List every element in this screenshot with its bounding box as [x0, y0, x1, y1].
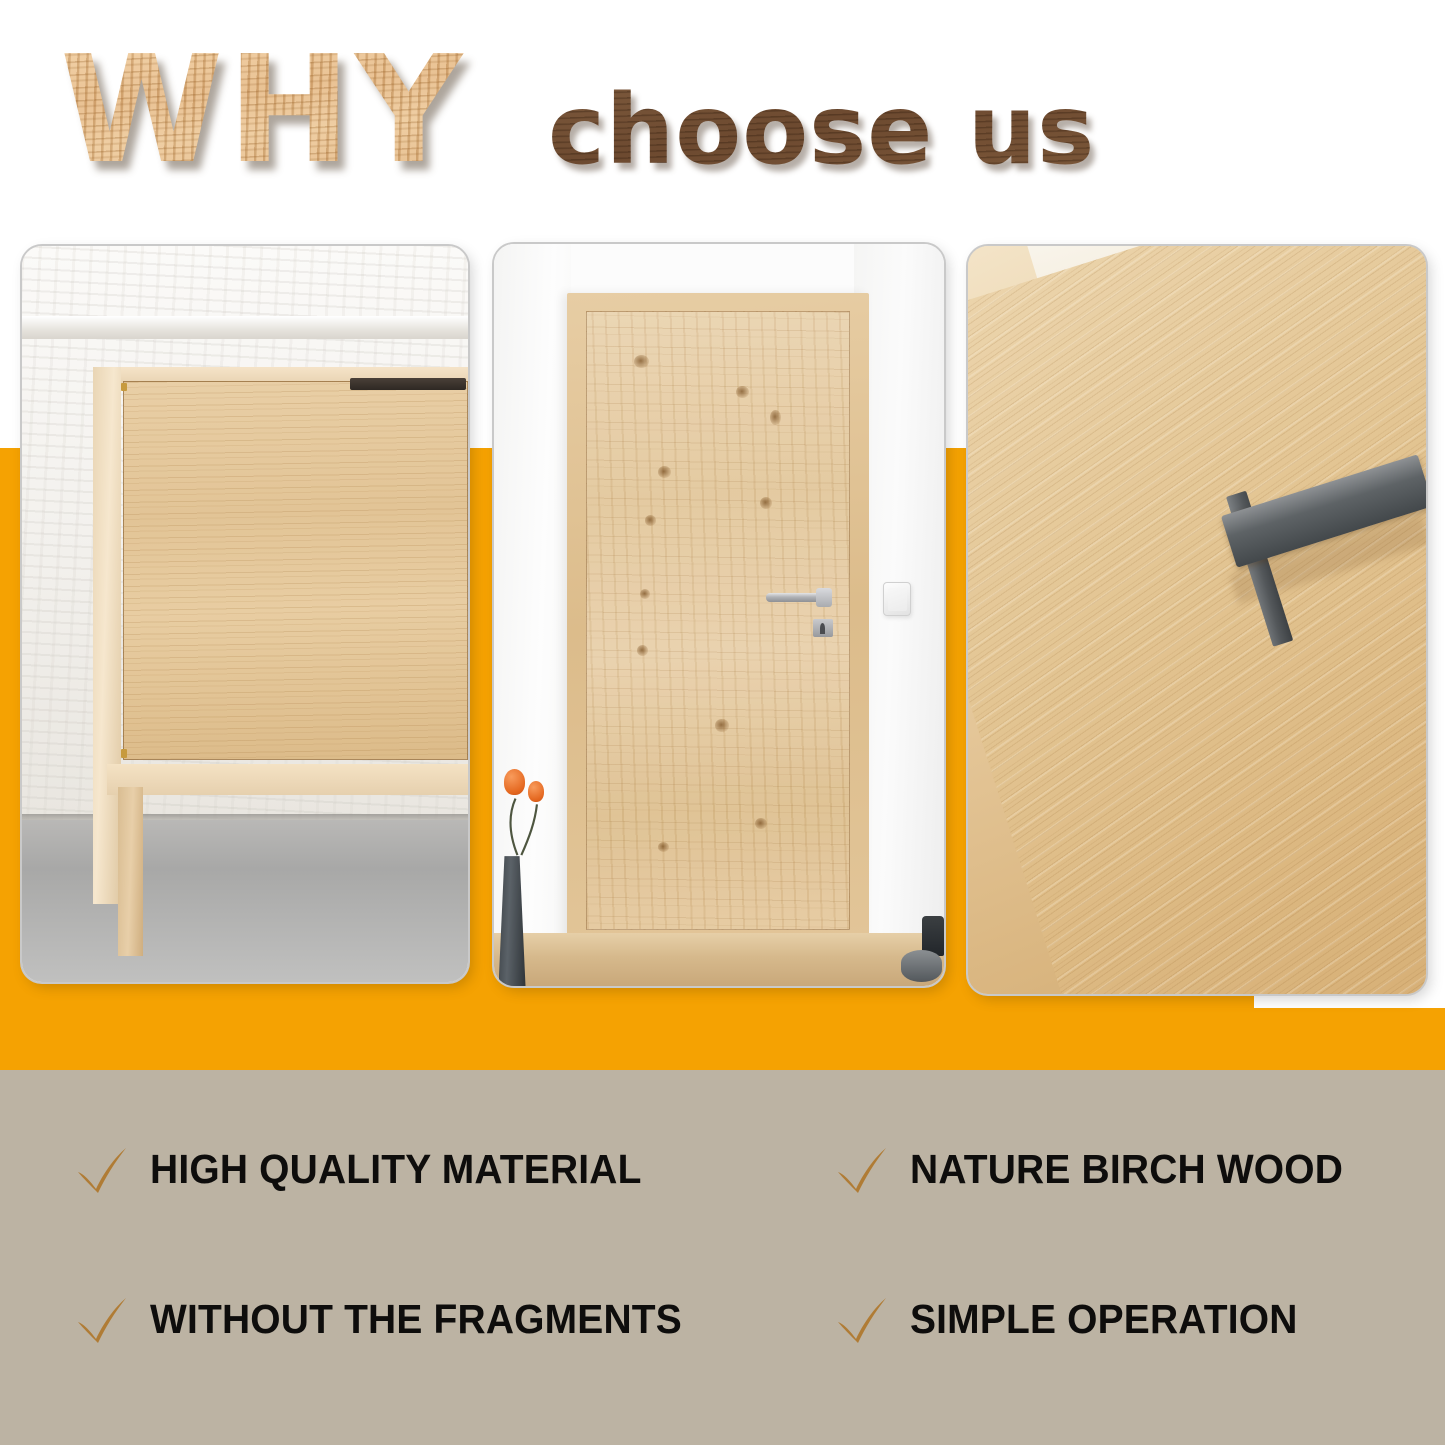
- wood-knot-icon: [645, 515, 657, 525]
- wood-knot-icon: [658, 466, 672, 478]
- drawer-front-face: [968, 246, 1426, 994]
- check-icon: [832, 1288, 894, 1350]
- cabinet-bottom-rail: [107, 764, 468, 795]
- floor-wall-seam: [22, 814, 468, 820]
- wood-knot-icon: [736, 386, 749, 398]
- feature-item-simple-operation: SIMPLE OPERATION: [832, 1288, 1318, 1350]
- feature-label: SIMPLE OPERATION: [910, 1296, 1298, 1343]
- drawer-macro-scene: [968, 246, 1426, 994]
- infographic-root: WHY choose us: [0, 0, 1445, 1445]
- drawer-hinge-top: [121, 383, 127, 391]
- handle-rose-plate: [816, 588, 832, 607]
- feature-label: HIGH QUALITY MATERIAL: [150, 1146, 642, 1193]
- wood-knot-icon: [760, 497, 772, 509]
- wall-ledge: [22, 316, 468, 340]
- keyhole-icon: [820, 623, 825, 634]
- wood-knot-icon: [755, 818, 767, 829]
- wood-knot-icon: [658, 842, 669, 852]
- feature-label: WITHOUT THE FRAGMENTS: [150, 1296, 682, 1343]
- feature-panel: [0, 1070, 1445, 1445]
- grey-floor: [22, 820, 468, 982]
- feature-item-without-the-fragments: WITHOUT THE FRAGMENTS: [72, 1288, 710, 1350]
- feature-item-nature-birch-wood: NATURE BIRCH WOOD: [832, 1138, 1366, 1200]
- cabinet-leg: [118, 787, 143, 956]
- light-switch: [883, 582, 911, 616]
- door-leaf: [586, 311, 850, 930]
- oak-door-photo: [494, 244, 944, 986]
- sideboard-scene: [22, 246, 468, 982]
- drawer-edge-macro-photo: [968, 246, 1426, 994]
- check-icon: [72, 1138, 134, 1200]
- feature-item-high-quality-material: HIGH QUALITY MATERIAL: [72, 1138, 667, 1200]
- floor-mat: [901, 950, 942, 981]
- wood-knot-icon: [634, 355, 648, 368]
- oak-sideboard-photo: [22, 246, 468, 982]
- photo-gallery: [0, 0, 1445, 1070]
- feature-label: NATURE BIRCH WOOD: [910, 1146, 1343, 1193]
- check-icon: [72, 1288, 134, 1350]
- drawer-hinge-bottom: [121, 749, 127, 757]
- cabinet-drawer-front: [123, 381, 468, 759]
- wood-knot-icon: [637, 645, 649, 656]
- floor-skirting: [494, 933, 944, 986]
- drawer-handle-bar: [350, 378, 466, 390]
- door-scene: [494, 244, 944, 986]
- check-icon: [832, 1138, 894, 1200]
- wood-knot-icon: [770, 410, 781, 425]
- wood-knot-icon: [640, 589, 650, 599]
- wood-knot-icon: [715, 719, 729, 733]
